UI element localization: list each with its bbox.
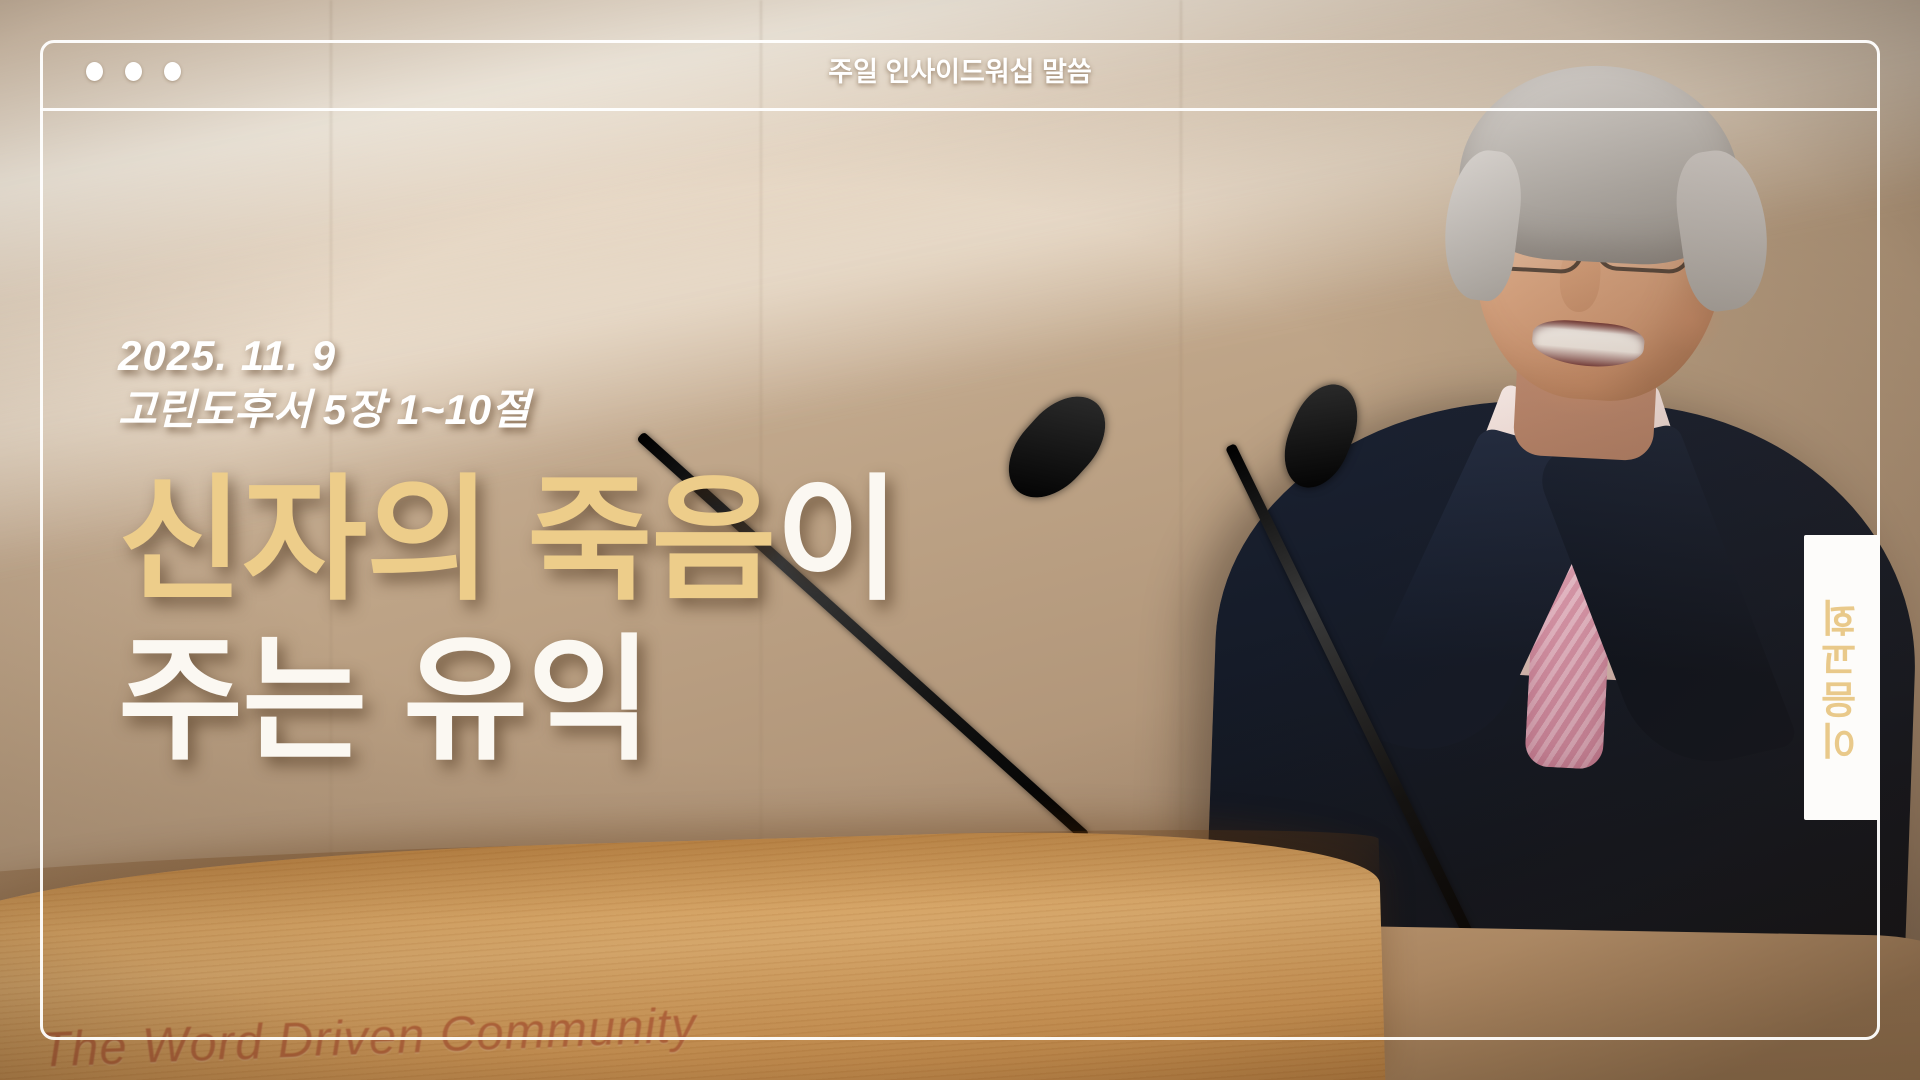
- window-title: 주일 인사이드워십 말씀: [0, 50, 1920, 89]
- sermon-title-line-1-gold: 신자의 죽음: [118, 464, 775, 616]
- scripture-reference: 고린도후서 5장 1~10절: [118, 383, 1118, 438]
- headline-block: 2025. 11. 9 고린도후서 5장 1~10절 신자의 죽음이 주는 유익: [118, 330, 1118, 781]
- church-name-label: 이음교회: [1815, 596, 1870, 760]
- window-titlebar-divider: [40, 108, 1880, 111]
- sermon-title-line-1-white: 이: [775, 464, 899, 616]
- sermon-title: 신자의 죽음이 주는 유익: [118, 460, 1118, 781]
- sermon-title-line-2: 주는 유익: [118, 620, 1118, 780]
- slide-canvas: The Word Driven Community 주일 인사이드워십 말씀 2…: [0, 0, 1920, 1080]
- sermon-title-line-1: 신자의 죽음이: [118, 460, 1118, 620]
- sermon-date: 2025. 11. 9: [118, 330, 1118, 381]
- church-name-tag: 이음교회: [1804, 535, 1880, 820]
